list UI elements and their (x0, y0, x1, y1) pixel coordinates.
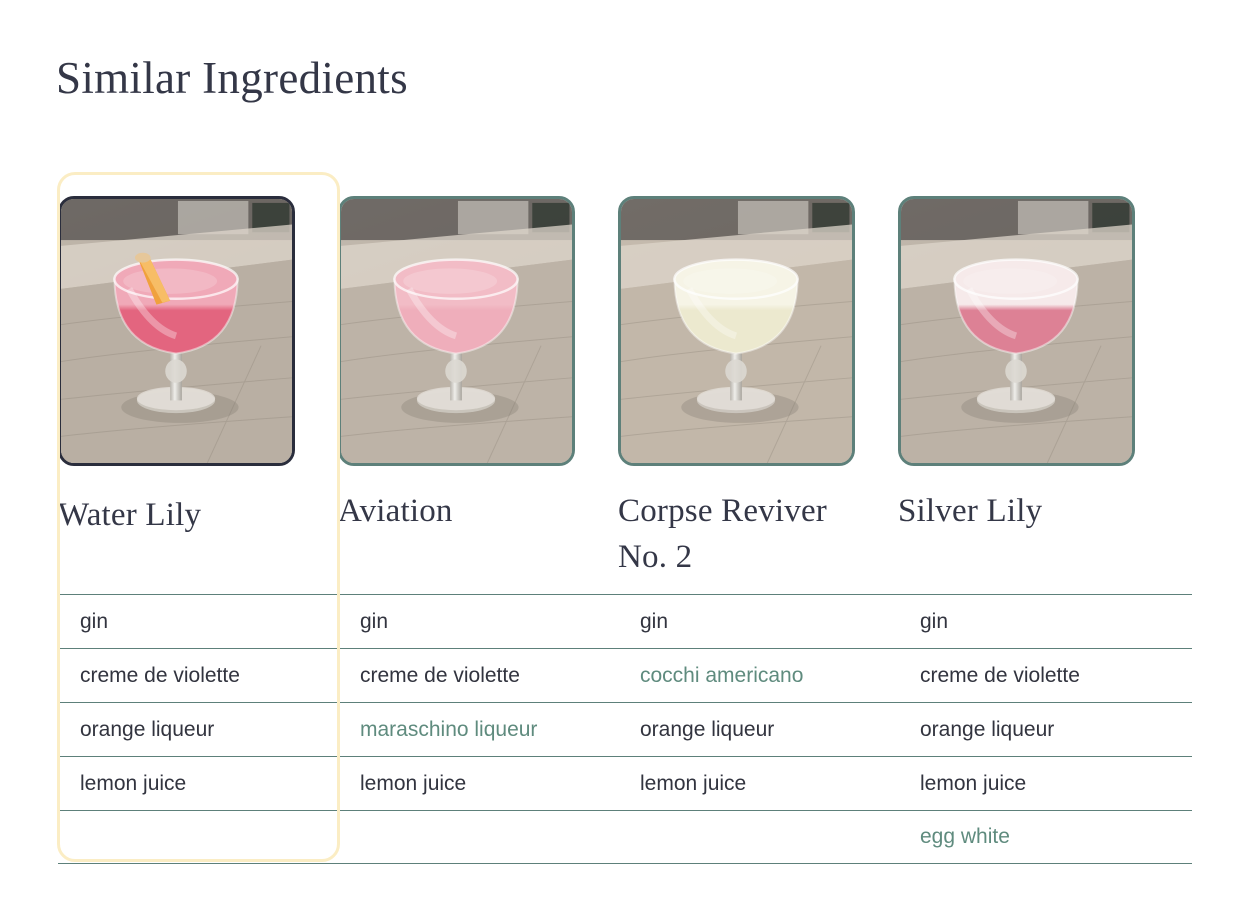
ingredient-cell[interactable]: creme de violette (898, 649, 1178, 702)
cocktail-card[interactable]: Silver Lily (898, 196, 1178, 580)
ingredient-cell[interactable]: gin (898, 595, 1178, 648)
ingredient-row: lemon juicelemon juicelemon juicelemon j… (58, 756, 1192, 810)
ingredient-cell[interactable]: lemon juice (618, 757, 898, 810)
cocktail-photo[interactable] (338, 196, 575, 466)
ingredient-cell[interactable]: orange liqueur (898, 703, 1178, 756)
cocktail-card[interactable]: Aviation (338, 196, 618, 580)
ingredient-cell[interactable]: maraschino liqueur (338, 703, 618, 756)
ingredient-cell-empty (618, 811, 898, 863)
cocktail-name: Water Lily (58, 492, 298, 538)
ingredient-cell-empty (338, 811, 618, 863)
ingredient-cell-empty (58, 811, 338, 863)
ingredient-cell[interactable]: cocchi americano (618, 649, 898, 702)
ingredient-cell[interactable]: orange liqueur (618, 703, 898, 756)
cocktail-card[interactable]: Corpse Reviver No. 2 (618, 196, 898, 580)
ingredient-cell[interactable]: creme de violette (58, 649, 338, 702)
ingredient-row: creme de violettecreme de violettecocchi… (58, 648, 1192, 702)
ingredient-row: egg white (58, 810, 1192, 864)
ingredient-cell[interactable]: lemon juice (898, 757, 1178, 810)
ingredient-cell[interactable]: gin (338, 595, 618, 648)
ingredient-cell[interactable]: orange liqueur (58, 703, 338, 756)
cocktail-card-list: Water Lily (58, 196, 1192, 580)
cocktail-photo[interactable] (58, 196, 295, 466)
ingredient-row: gingingingin (58, 594, 1192, 648)
cocktail-card[interactable]: Water Lily (58, 196, 338, 580)
cocktail-name: Corpse Reviver No. 2 (618, 488, 858, 580)
ingredient-cell[interactable]: gin (618, 595, 898, 648)
ingredient-cell[interactable]: lemon juice (58, 757, 338, 810)
ingredient-comparison-table: gingingingincreme de violettecreme de vi… (58, 594, 1192, 864)
ingredient-cell[interactable]: egg white (898, 811, 1178, 863)
ingredient-cell[interactable]: gin (58, 595, 338, 648)
ingredient-cell[interactable]: lemon juice (338, 757, 618, 810)
cocktail-photo[interactable] (618, 196, 855, 466)
ingredient-cell[interactable]: creme de violette (338, 649, 618, 702)
cocktail-name: Aviation (338, 488, 578, 534)
ingredient-row: orange liqueurmaraschino liqueurorange l… (58, 702, 1192, 756)
page-title: Similar Ingredients (56, 52, 408, 104)
similar-ingredients-page: Similar Ingredients (0, 0, 1260, 920)
cocktail-photo[interactable] (898, 196, 1135, 466)
cocktail-name: Silver Lily (898, 488, 1138, 534)
